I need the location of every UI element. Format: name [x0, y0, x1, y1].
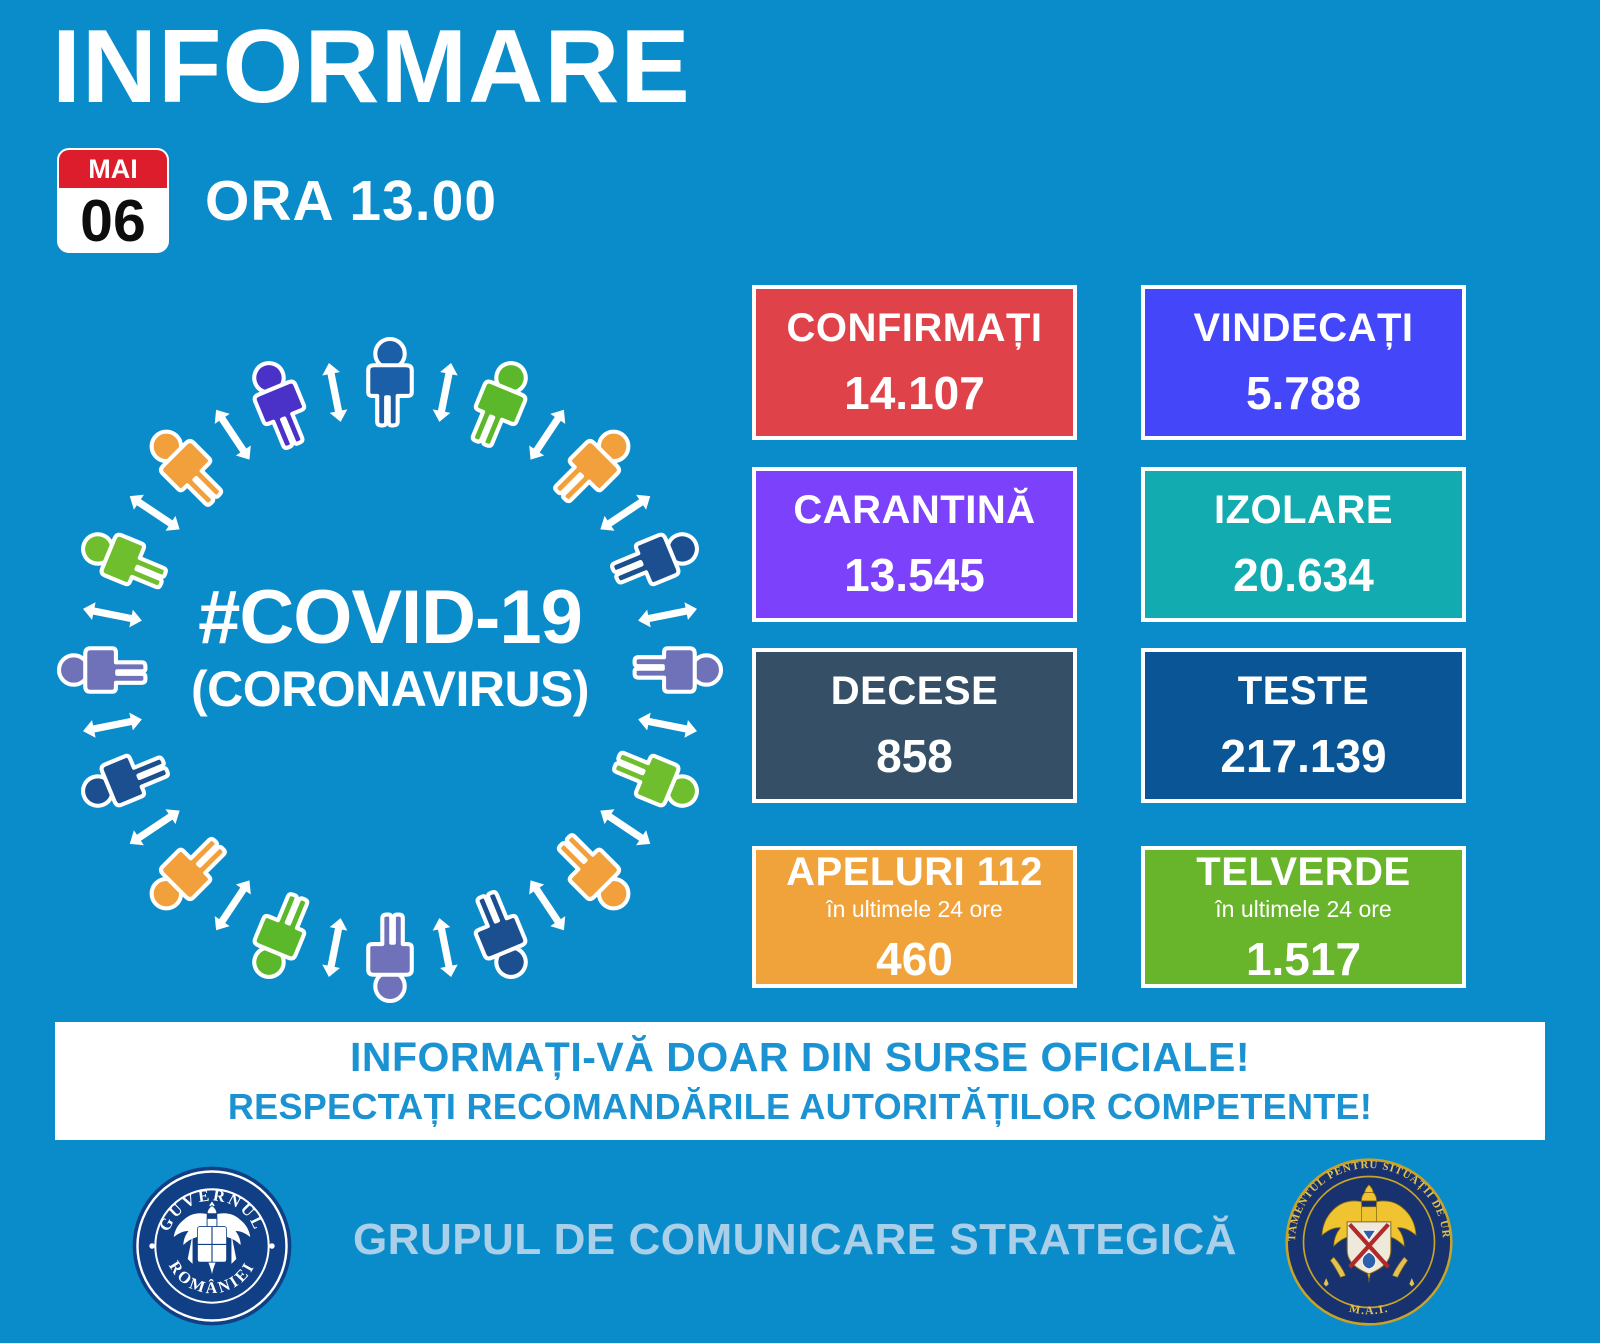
stat-label-izolare: IZOLARE [1214, 488, 1393, 532]
distance-arrow [595, 489, 655, 537]
stat-card-telverde: TELVERDEîn ultimele 24 ore1.517 [1141, 846, 1466, 988]
stat-card-izolare: IZOLARE20.634 [1141, 467, 1466, 622]
stat-label-carantina: CARANTINĂ [793, 488, 1035, 532]
distance-arrow [209, 875, 257, 935]
stat-card-apeluri-112: APELURI 112în ultimele 24 ore460 [752, 846, 1077, 988]
person-figure [59, 648, 145, 692]
calendar-icon: MAI 06 [57, 148, 169, 253]
person-figure [368, 339, 412, 425]
message-line-2: RESPECTAȚI RECOMANDĂRILE AUTORITĂȚILOR C… [228, 1085, 1372, 1128]
person-figure [76, 523, 172, 596]
distance-arrow [523, 875, 571, 935]
stat-card-vindecati: VINDECAȚI5.788 [1141, 285, 1466, 440]
stat-card-confirmati: CONFIRMAȚI14.107 [752, 285, 1077, 440]
stat-sublabel-apeluri-112: în ultimele 24 ore [826, 896, 1002, 924]
footer-organization-label: GRUPUL DE COMUNICARE STRATEGICĂ [330, 1215, 1260, 1265]
person-figure [141, 421, 233, 513]
distance-arrow [125, 489, 185, 537]
person-figure [243, 356, 316, 452]
distance-arrow [125, 803, 185, 851]
dsu-logo: DEPARTAMENTUL PENTRU SITUAȚII DE URGENȚĂ… [1285, 1158, 1453, 1326]
stat-value-carantina: 13.545 [844, 550, 985, 601]
person-figure [464, 356, 537, 452]
calendar-day-label: 06 [59, 188, 167, 253]
distance-arrow [320, 916, 349, 978]
distance-arrow [636, 600, 698, 629]
distance-arrow [431, 916, 460, 978]
stat-label-decese: DECESE [831, 669, 999, 713]
report-time: ORA 13.00 [205, 168, 497, 234]
distance-arrow [595, 803, 655, 851]
stat-value-confirmati: 14.107 [844, 368, 985, 419]
distance-arrow [636, 711, 698, 740]
person-figure [635, 648, 721, 692]
person-figure [548, 828, 640, 920]
person-figure [548, 421, 640, 513]
page-title: INFORMARE [52, 8, 691, 128]
stat-card-carantina: CARANTINĂ13.545 [752, 467, 1077, 622]
stat-sublabel-telverde: în ultimele 24 ore [1215, 896, 1391, 924]
calendar-month-label: MAI [59, 150, 167, 188]
stat-value-apeluri-112: 460 [876, 934, 953, 985]
stat-label-confirmati: CONFIRMAȚI [786, 306, 1042, 350]
person-figure [368, 915, 412, 1001]
stat-label-vindecati: VINDECAȚI [1193, 306, 1413, 350]
stat-value-decese: 858 [876, 731, 953, 782]
social-distancing-circle-illustration [55, 335, 725, 1005]
person-figure [608, 744, 704, 817]
stat-card-teste: TESTE217.139 [1141, 648, 1466, 803]
distance-arrow [81, 600, 143, 629]
people-ring [59, 339, 721, 1001]
distance-arrow [431, 361, 460, 423]
guvernul-romaniei-logo: GUVERNUL ROMÂNIEI [131, 1165, 293, 1327]
person-figure [76, 744, 172, 817]
distance-arrow [523, 405, 571, 465]
distance-arrow [320, 361, 349, 423]
person-figure [608, 523, 704, 596]
official-sources-banner: INFORMAȚI-VĂ DOAR DIN SURSE OFICIALE! RE… [55, 1022, 1545, 1140]
person-figure [141, 828, 233, 920]
stat-label-apeluri-112: APELURI 112 [786, 850, 1043, 894]
stat-value-izolare: 20.634 [1233, 550, 1374, 601]
infographic-page: INFORMARE MAI 06 ORA 13.00 #COVID-19 [0, 0, 1600, 1343]
distance-arrow [81, 711, 143, 740]
stat-label-telverde: TELVERDE [1196, 850, 1410, 894]
distance-arrow [209, 405, 257, 465]
person-figure [243, 888, 316, 984]
stat-label-teste: TESTE [1238, 669, 1369, 713]
stat-value-teste: 217.139 [1220, 731, 1386, 782]
stat-value-vindecati: 5.788 [1246, 368, 1361, 419]
stat-card-decese: DECESE858 [752, 648, 1077, 803]
message-line-1: INFORMAȚI-VĂ DOAR DIN SURSE OFICIALE! [350, 1034, 1250, 1081]
stat-value-telverde: 1.517 [1246, 934, 1361, 985]
person-figure [464, 888, 537, 984]
